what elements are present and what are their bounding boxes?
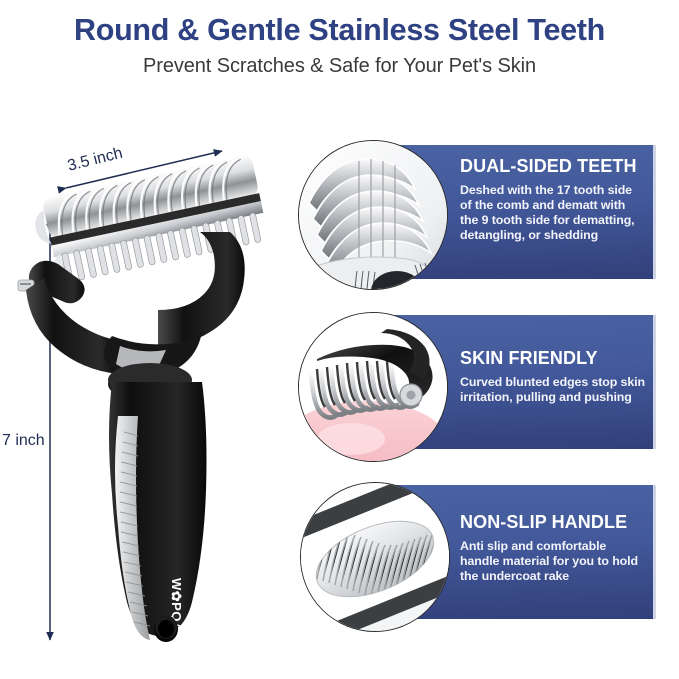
feature-text-block: SKIN FRIENDLY Curved blunted edges stop … bbox=[460, 349, 645, 405]
feature-body: Deshed with the 17 tooth side of the com… bbox=[460, 183, 645, 244]
feature-title: DUAL-SIDED TEETH bbox=[460, 157, 645, 177]
comb-teeth-closeup-icon bbox=[298, 140, 448, 290]
page-subtitle: Prevent Scratches & Safe for Your Pet's … bbox=[0, 55, 679, 78]
rake-on-skin-icon bbox=[298, 312, 448, 462]
feature-text-block: DUAL-SIDED TEETH Deshed with the 17 toot… bbox=[460, 157, 645, 243]
feature-title: NON-SLIP HANDLE bbox=[460, 513, 645, 533]
product-illustration-area: 3.5 inch 7 inch bbox=[0, 140, 292, 670]
textured-grip-closeup-icon bbox=[300, 482, 450, 632]
feature-body: Curved blunted edges stop skin irritatio… bbox=[460, 375, 645, 405]
product-image: W✿PQAEM bbox=[0, 140, 292, 670]
header: Round & Gentle Stainless Steel Teeth Pre… bbox=[0, 14, 679, 78]
feature-text-block: NON-SLIP HANDLE Anti slip and comfortabl… bbox=[460, 513, 645, 584]
page-title: Round & Gentle Stainless Steel Teeth bbox=[0, 14, 679, 47]
feature-body: Anti slip and comfortable handle materia… bbox=[460, 539, 645, 584]
brand-logo-text: W✿PQAEM bbox=[169, 578, 184, 652]
feature-title: SKIN FRIENDLY bbox=[460, 349, 645, 369]
